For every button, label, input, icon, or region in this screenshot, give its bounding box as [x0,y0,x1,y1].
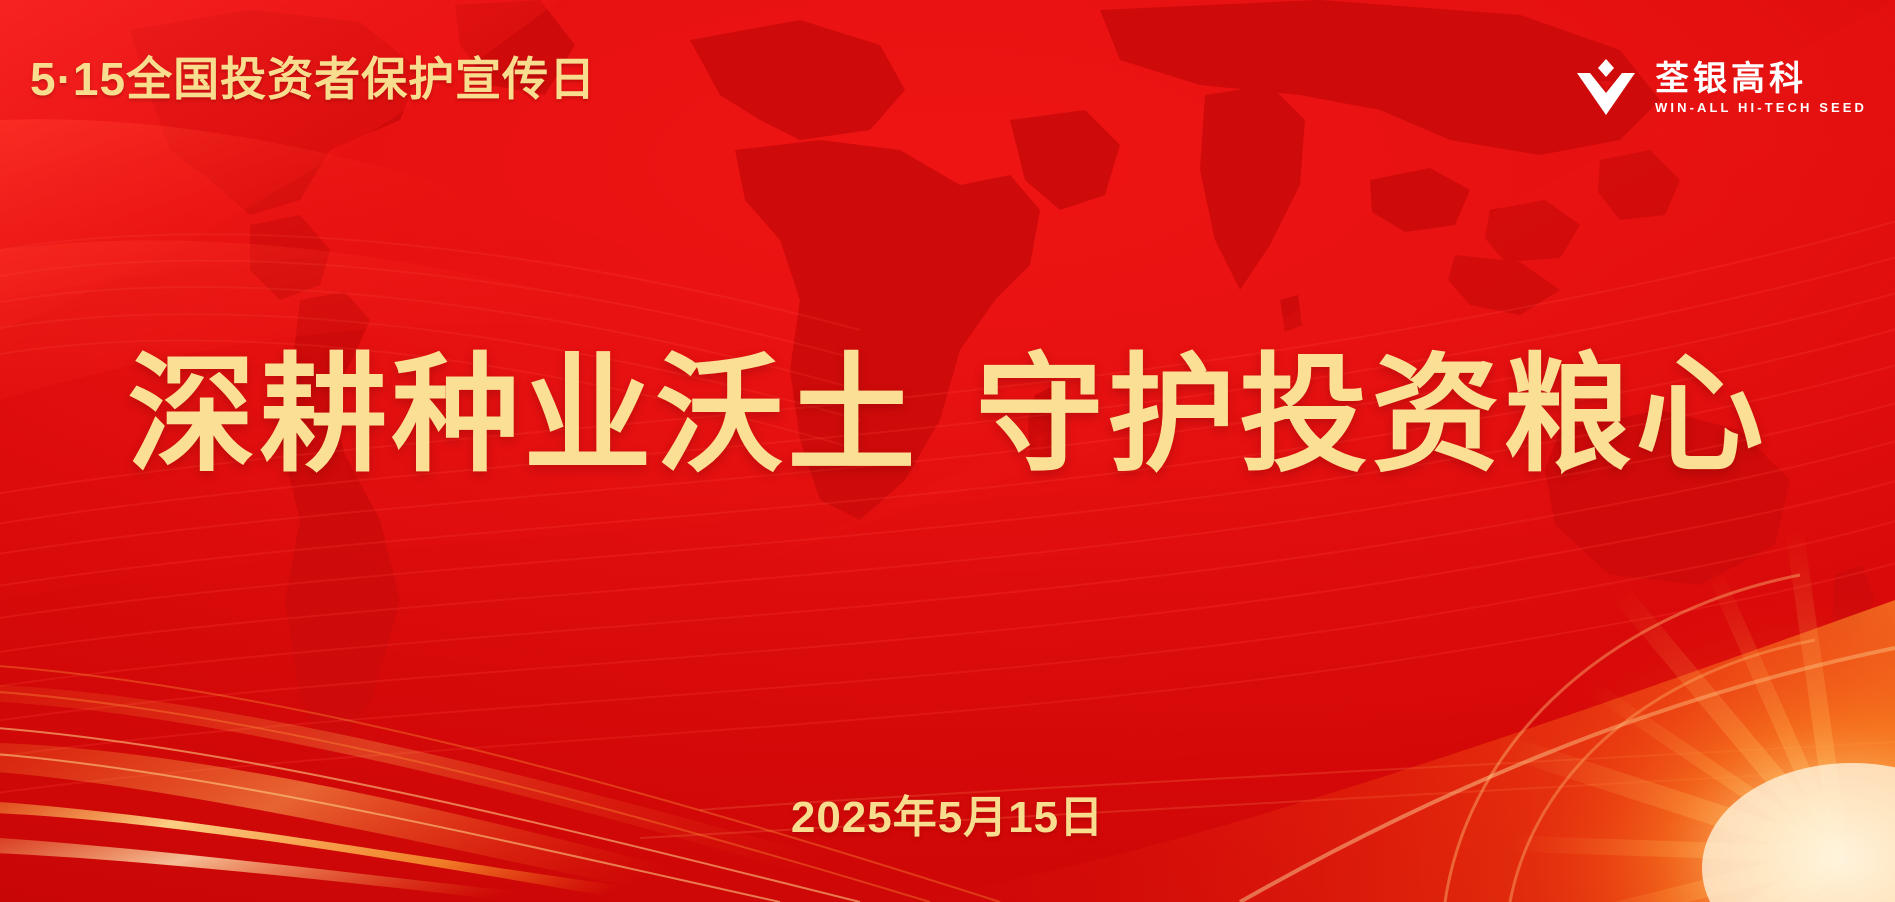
company-name-en: WIN-ALL HI-TECH SEED [1655,100,1867,116]
logo-wordmark: 荃银高科 WIN-ALL HI-TECH SEED [1655,60,1867,116]
headline-phrase-2: 守护投资粮心 [976,344,1768,487]
event-date: 2025年5月15日 [0,796,1895,840]
main-headline: 深耕种业沃土守护投资粮心 [0,340,1895,491]
company-name-cn: 荃银高科 [1655,60,1867,98]
event-eyebrow-title: 5·15全国投资者保护宣传日 [30,56,596,102]
banner-content: 5·15全国投资者保护宣传日 荃银高科 WIN-ALL HI-TECH SEED… [0,0,1895,902]
headline-phrase-1: 深耕种业沃土 [127,344,919,487]
seed-chevron-icon [1573,57,1639,119]
promotional-banner: 5·15全国投资者保护宣传日 荃银高科 WIN-ALL HI-TECH SEED… [0,0,1895,902]
company-logo: 荃银高科 WIN-ALL HI-TECH SEED [1573,52,1867,124]
